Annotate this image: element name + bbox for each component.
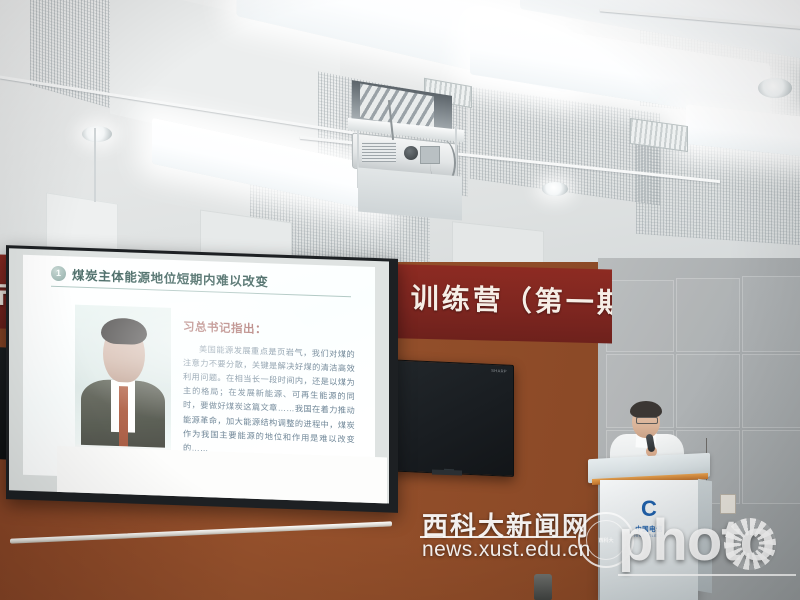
wall-tile — [676, 278, 740, 352]
watermark-seal-center: 西科大 — [598, 537, 613, 544]
wall-mounted-display[interactable]: SHARP — [384, 359, 514, 477]
slide-portrait — [75, 305, 171, 458]
recessed-downlight — [542, 182, 568, 196]
photo-scene: 市南 山” 训练营（第一期） SHARP 1 煤炭主体能源地位短期内难以改变 — [0, 0, 800, 600]
speaker-hair — [630, 401, 662, 418]
wall-tile — [742, 276, 800, 352]
watermark-rule-bottom — [618, 574, 796, 576]
watermark: 西科大新闻网 news.xust.edu.cn 西科大 photo — [418, 504, 800, 594]
aperture-icon — [724, 518, 776, 570]
projector-lens — [404, 146, 418, 160]
slide-step-badge: 1 — [51, 266, 66, 282]
wall-tile — [742, 354, 800, 428]
portrait-hair — [101, 317, 147, 345]
watermark-url: news.xust.edu.cn — [422, 538, 591, 562]
portrait-tie — [119, 386, 128, 448]
recessed-downlight — [758, 78, 792, 98]
projector-support-rod — [94, 128, 96, 202]
slide-quote-body: 美国能源发展重点是页岩气，我们对煤的注意力不要分散，关键是解决好煤的清洁高效利用… — [183, 342, 355, 461]
display-wall-bracket — [432, 469, 462, 475]
display-brand-label: SHARP — [491, 368, 507, 374]
projection-screen-frame: 1 煤炭主体能源地位短期内难以改变 习总书记指出： 美国能源发展重点是页岩气，我… — [6, 245, 398, 513]
projection-screen-surface: 1 煤炭主体能源地位短期内难以改变 习总书记指出： 美国能源发展重点是页岩气，我… — [9, 248, 389, 503]
wall-tile — [742, 430, 800, 504]
wall-tile — [606, 280, 674, 352]
projector-vent-grille — [362, 142, 396, 162]
recessed-downlight — [82, 126, 112, 142]
speaker-glasses — [636, 417, 658, 424]
slide-quote-heading: 习总书记指出： — [183, 318, 267, 337]
ceiling — [0, 0, 800, 268]
slide-title: 煤炭主体能源地位短期内难以改变 — [72, 264, 269, 290]
ceiling-coffer — [452, 221, 544, 268]
projector-drop-panel — [358, 167, 462, 220]
